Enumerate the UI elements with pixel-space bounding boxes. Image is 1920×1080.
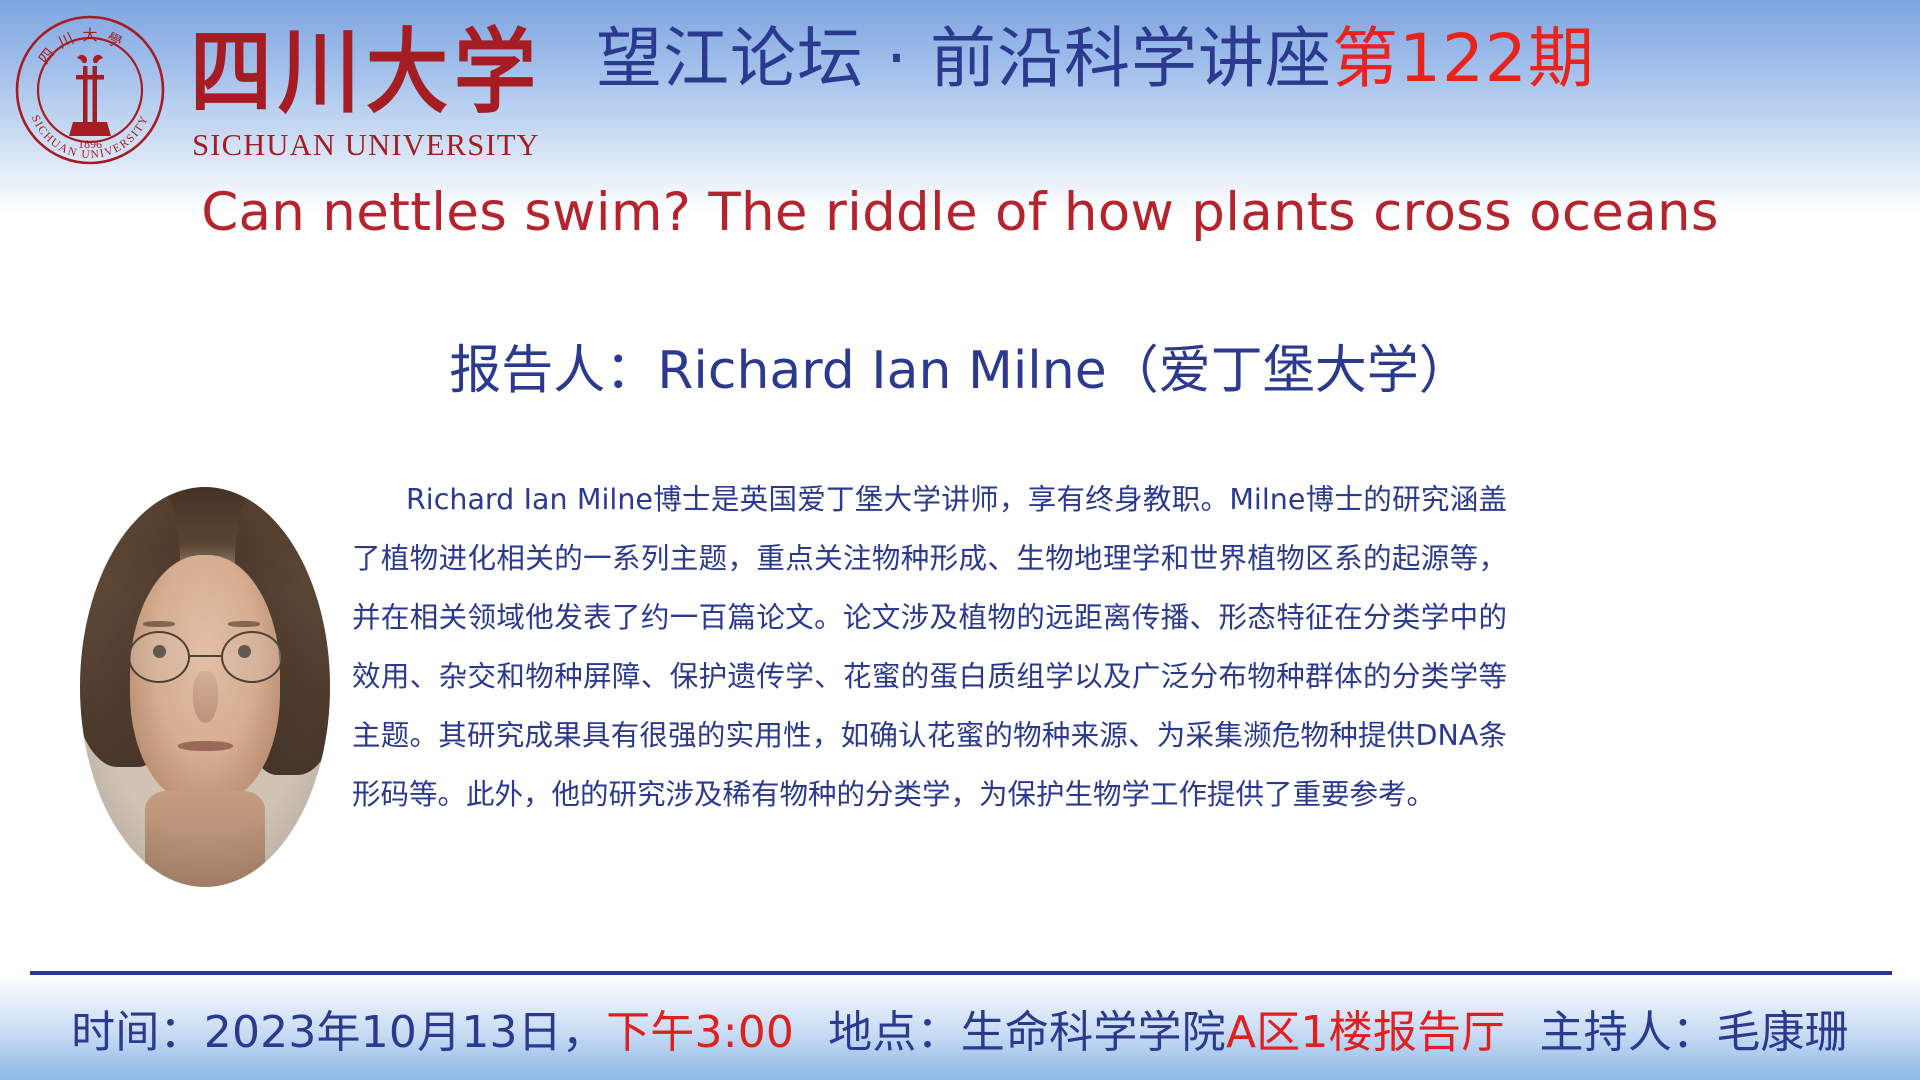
speaker-portrait-photo <box>80 487 330 887</box>
place-label: 地点： <box>828 996 961 1060</box>
university-name-en: SICHUAN UNIVERSITY <box>192 128 540 163</box>
time-clock: 下午3:00 <box>606 996 794 1060</box>
university-name-cn: 四川大学 <box>190 30 542 117</box>
banner-text: 望江论坛 · 前沿科学讲座第122期 <box>596 24 1595 93</box>
university-name-block: 四川大学 SICHUAN UNIVERSITY <box>162 14 570 163</box>
speaker-label-cn: 报告人： <box>449 341 657 401</box>
sichuan-university-seal-icon: 大 川 四 學 1896 <box>14 14 166 166</box>
place-building: 生命科学学院 <box>961 996 1226 1060</box>
svg-text:四: 四 <box>35 45 58 68</box>
time-label: 时间： <box>71 996 204 1060</box>
speaker-biography-text: Richard Ian Milne博士是英国爱丁堡大学讲师，享有终身教职。Mil… <box>352 470 1507 824</box>
speaker-affiliation-cn: （爱丁堡大学） <box>1107 341 1471 401</box>
issue-number-cn: 第122期 <box>1332 20 1595 97</box>
speaker-line: 报告人：Richard Ian Milne（爱丁堡大学） <box>0 328 1920 403</box>
footer-details: 时间：2023年10月13日，下午3:00地点：生命科学学院A区1楼报告厅主持人… <box>0 975 1920 1080</box>
host-label: 主持人： <box>1539 996 1716 1060</box>
svg-text:大: 大 <box>82 26 97 44</box>
time-date: 2023年10月13日， <box>204 996 606 1060</box>
university-logo: 大 川 四 學 1896 <box>0 0 570 190</box>
portrait-vignette <box>80 487 330 887</box>
poster-header: 大 川 四 學 1896 <box>0 0 1920 190</box>
speaker-name-en: Richard Ian Milne <box>657 341 1106 401</box>
place-room: A区1楼报告厅 <box>1226 996 1506 1060</box>
series-title-cn: 望江论坛 · 前沿科学讲座 <box>596 20 1332 97</box>
host-name: 毛康珊 <box>1716 996 1849 1060</box>
lecture-series-banner: 望江论坛 · 前沿科学讲座第122期 <box>570 0 1920 93</box>
talk-title-en: Can nettles swim? The riddle of how plan… <box>0 182 1920 243</box>
